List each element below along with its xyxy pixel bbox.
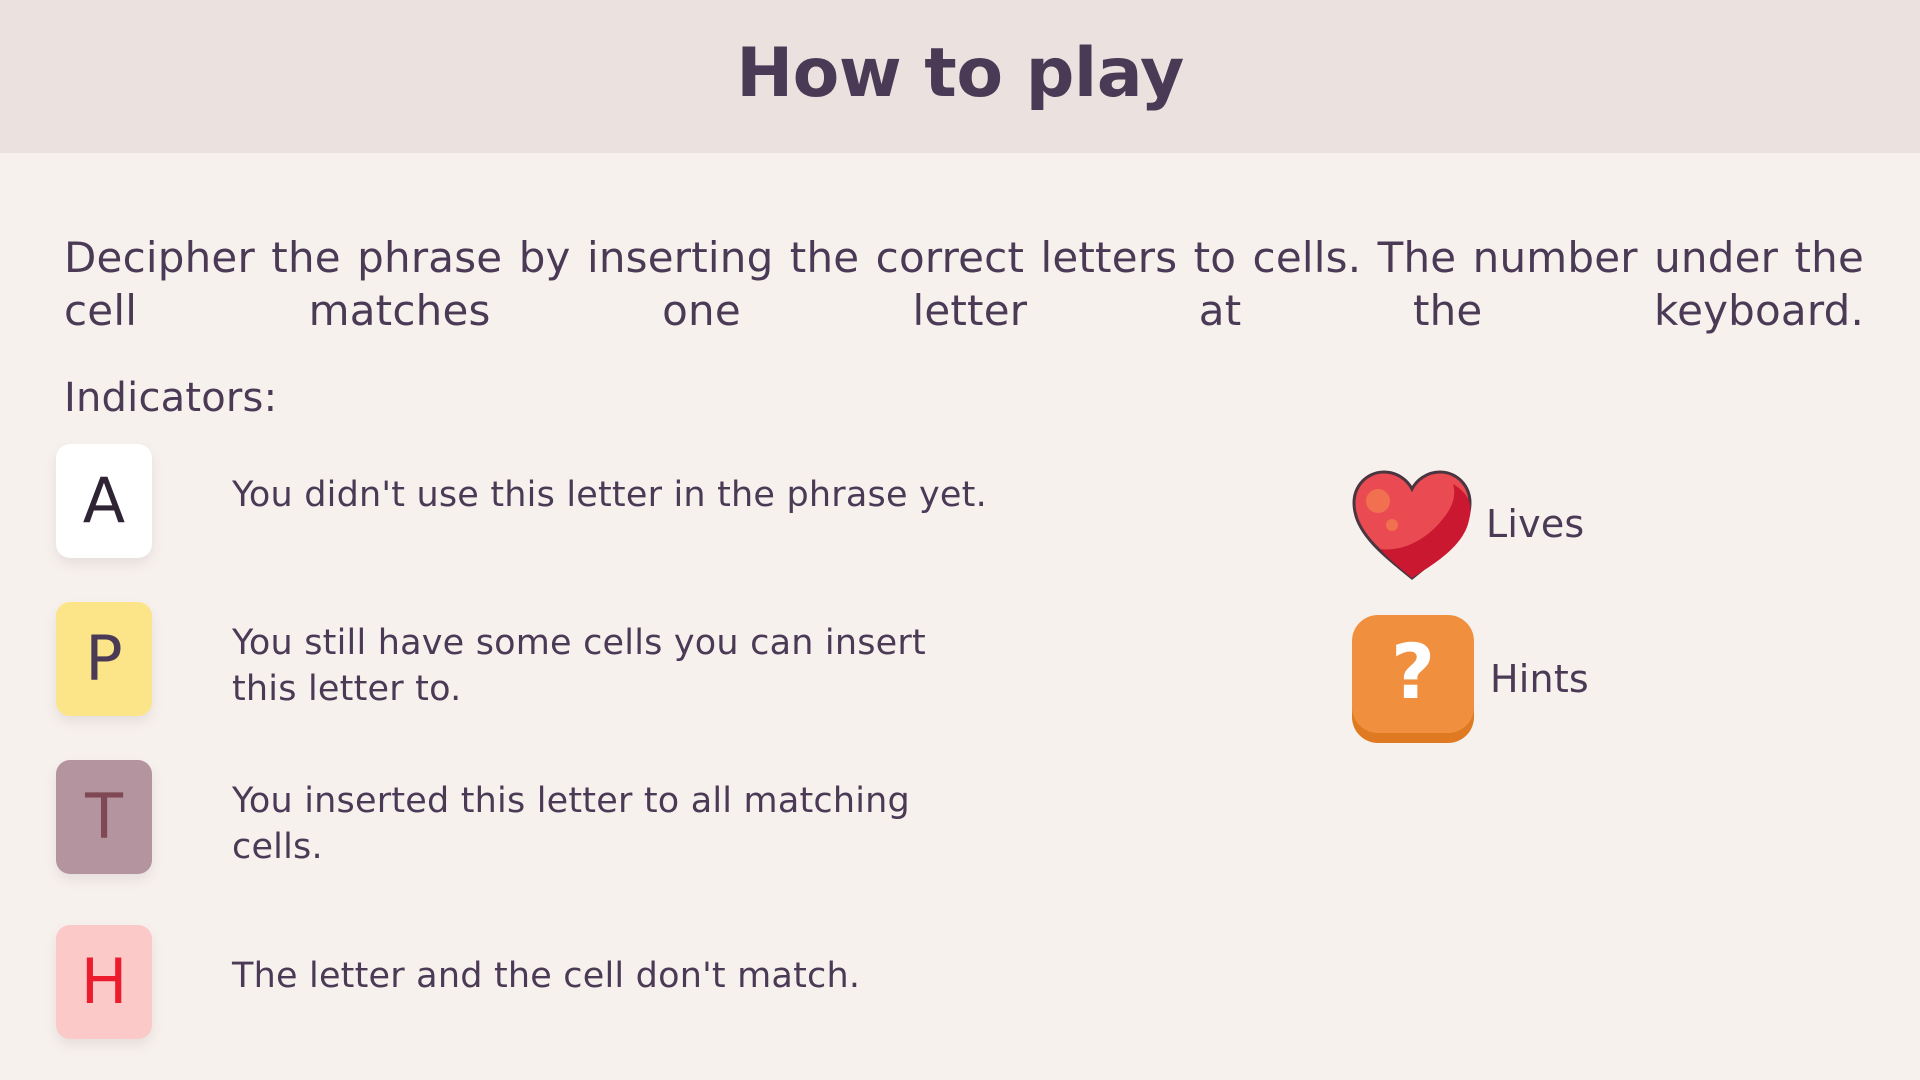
hint-icon-glyph: ? (1391, 634, 1435, 710)
legend-label-hints: Hints (1490, 657, 1589, 701)
letter-tile-partially-used: P (56, 602, 152, 716)
indicator-description: The letter and the cell don't match. (232, 925, 860, 999)
heart-icon (1350, 468, 1474, 580)
legend-item-lives: Lives (1350, 468, 1584, 580)
indicator-row: P You still have some cells you can inse… (56, 602, 992, 716)
indicator-row: H The letter and the cell don't match. (56, 925, 860, 1039)
header-bar: How to play (0, 0, 1920, 153)
content-area: Decipher the phrase by inserting the cor… (0, 153, 1920, 1080)
letter-tile-mismatch: H (56, 925, 152, 1039)
letter-tile-fully-used: T (56, 760, 152, 874)
hint-icon-face: ? (1352, 615, 1474, 733)
question-mark-icon: ? (1352, 615, 1474, 743)
indicators-heading: Indicators: (64, 375, 277, 421)
legend-item-hints: ? Hints (1352, 615, 1589, 743)
intro-paragraph: Decipher the phrase by inserting the cor… (64, 232, 1864, 338)
legend-label-lives: Lives (1486, 502, 1584, 546)
letter-tile-unused: A (56, 444, 152, 558)
indicator-row: A You didn't use this letter in the phra… (56, 444, 987, 558)
how-to-play-screen: How to play Decipher the phrase by inser… (0, 0, 1920, 1080)
indicator-row: T You inserted this letter to all matchi… (56, 760, 992, 874)
indicator-description: You still have some cells you can insert… (232, 602, 992, 712)
indicator-description: You didn't use this letter in the phrase… (232, 444, 987, 518)
indicator-description: You inserted this letter to all matching… (232, 760, 992, 870)
page-title: How to play (736, 40, 1184, 108)
